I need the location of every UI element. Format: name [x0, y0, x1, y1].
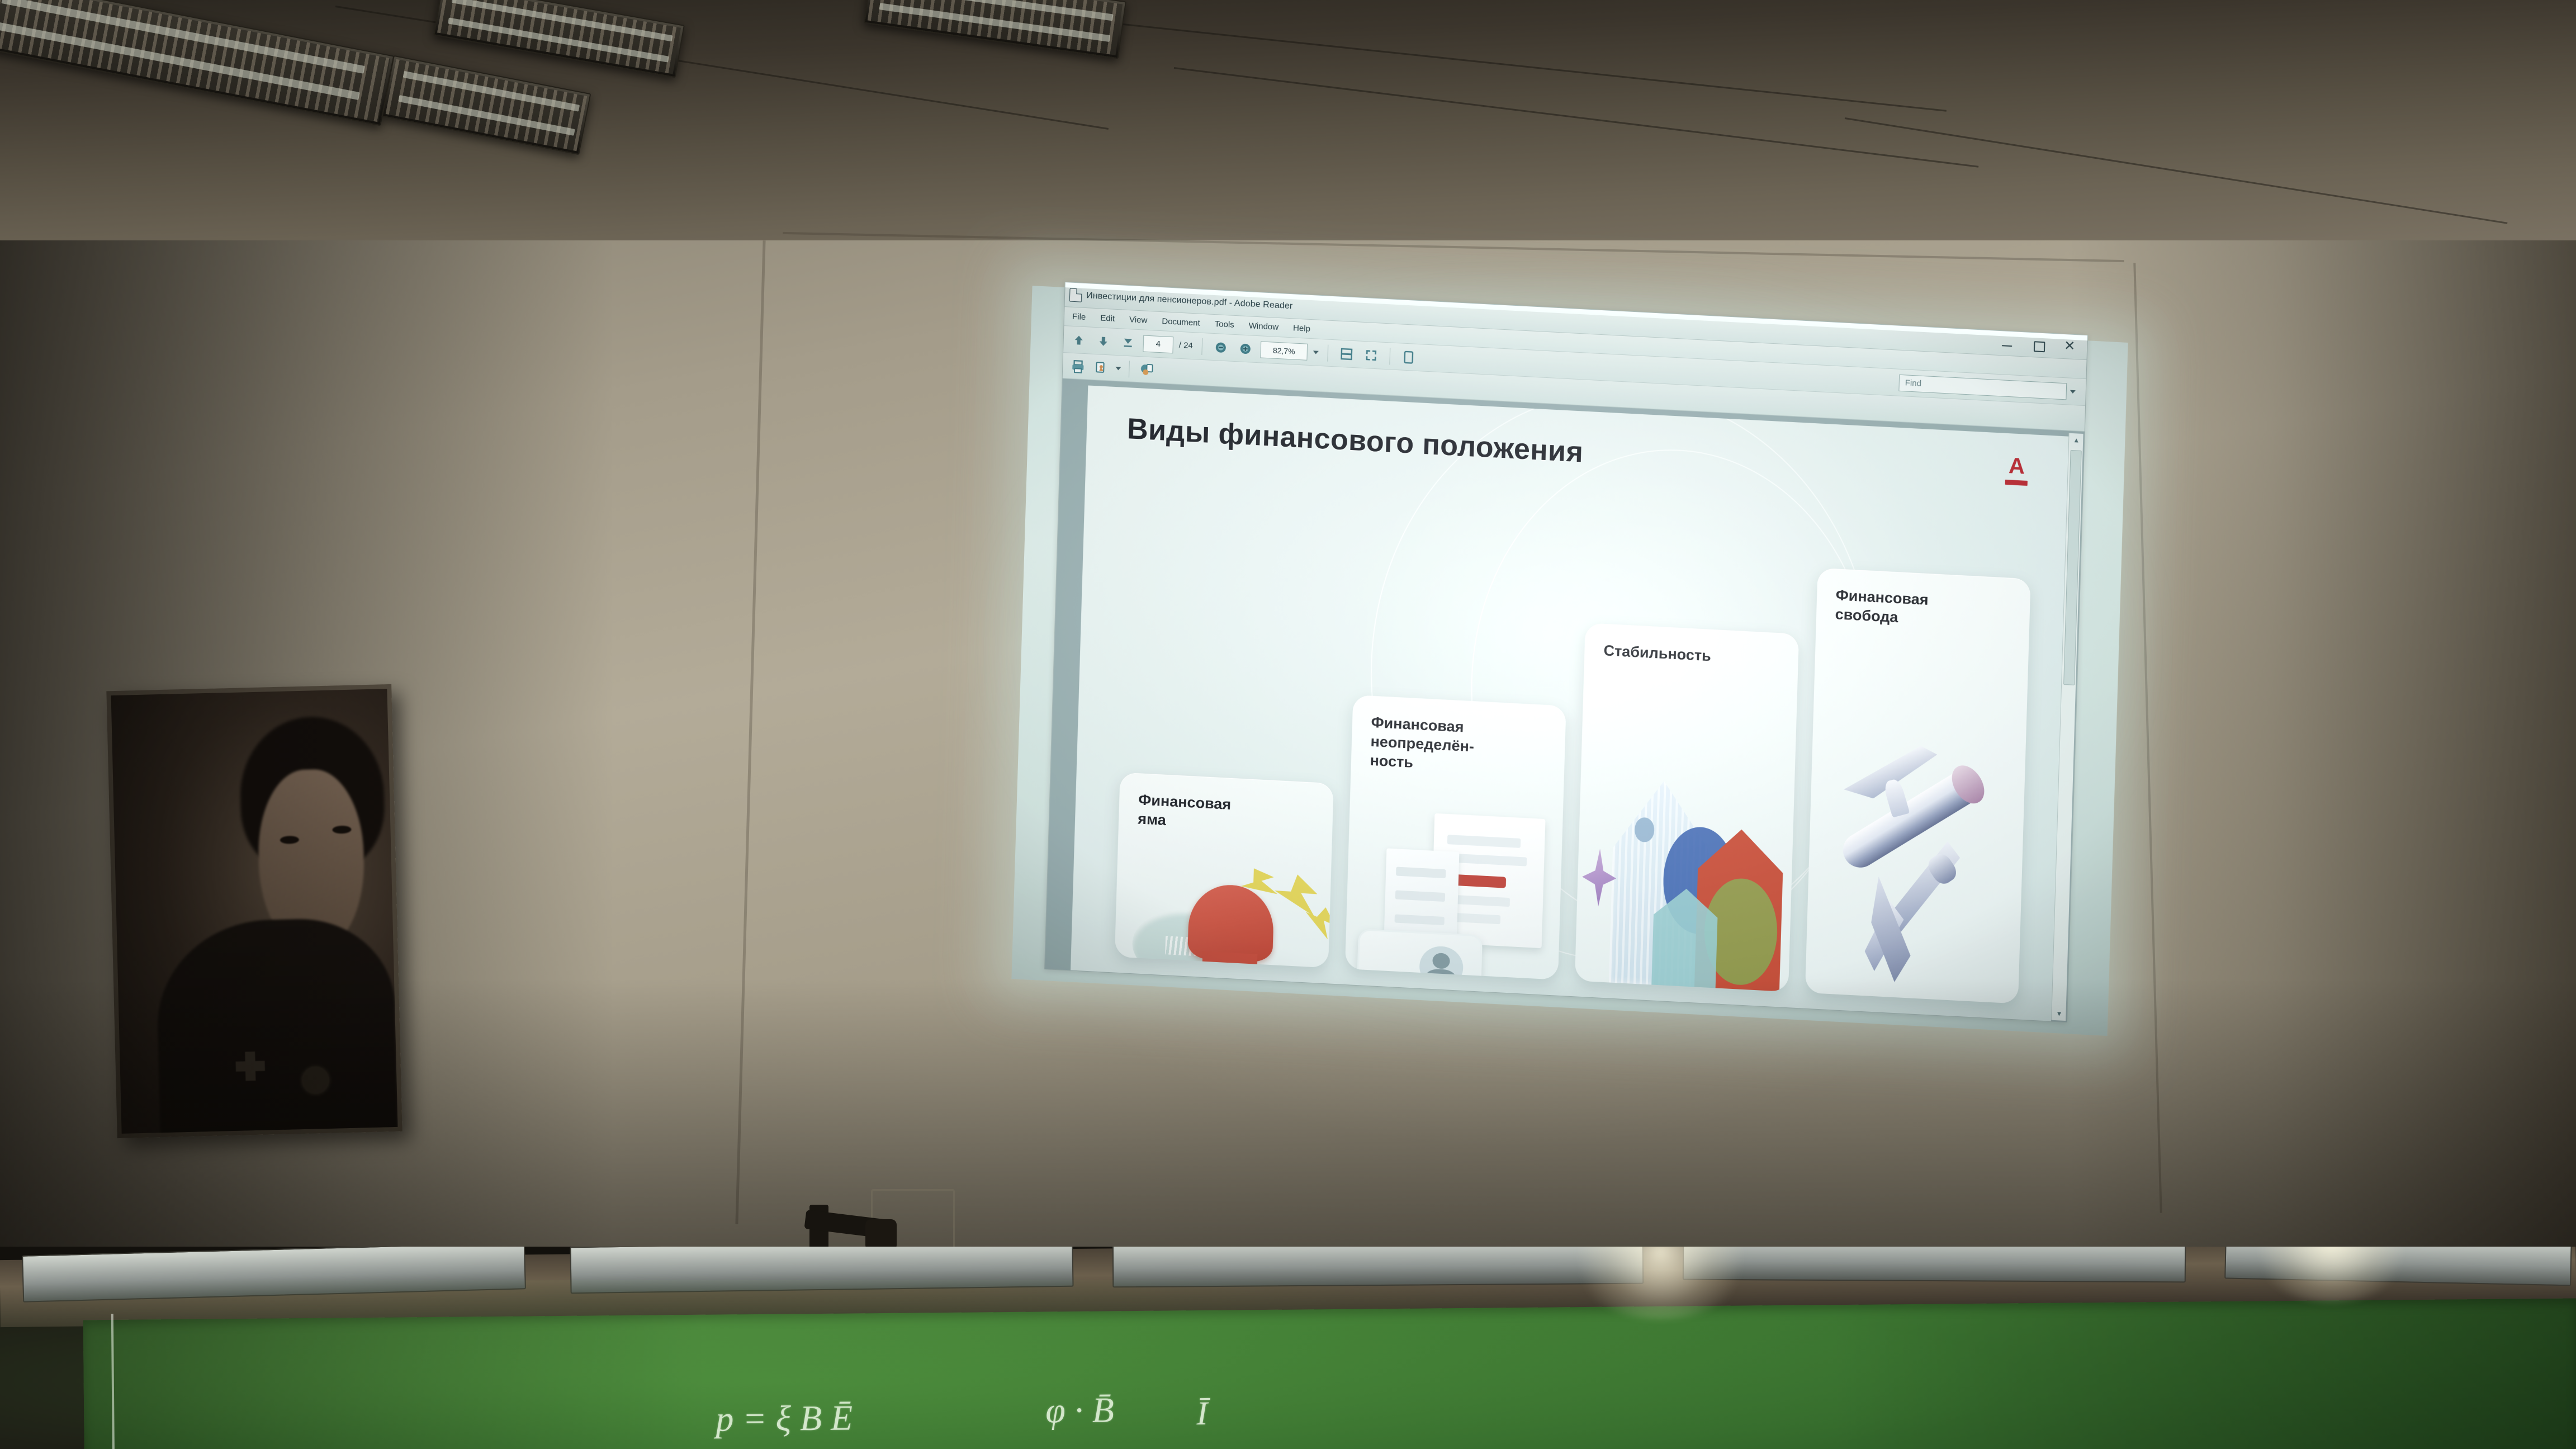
- card-financial-pit[interactable]: Финансовая яма: [1115, 773, 1333, 968]
- print-icon[interactable]: [1068, 356, 1088, 376]
- airplane-art: [1805, 687, 2027, 1004]
- projection-screen: Инвестиции для пенсионеров.pdf - Adobe R…: [1011, 286, 2128, 1036]
- menu-item-tools[interactable]: Tools: [1214, 319, 1234, 330]
- alert-bell-icon: [1187, 883, 1275, 963]
- menu-item-file[interactable]: File: [1072, 312, 1086, 322]
- window-controls: ✕: [2000, 336, 2083, 355]
- email-icon[interactable]: [1092, 357, 1111, 377]
- chevron-down-icon[interactable]: [1313, 351, 1319, 354]
- zoom-in-icon[interactable]: [1235, 339, 1255, 359]
- window-title: Инвестиции для пенсионеров.pdf - Adobe R…: [1086, 291, 1293, 311]
- card-stability[interactable]: Стабильность: [1575, 623, 1799, 992]
- card-financial-freedom[interactable]: Финансовая свобода: [1805, 568, 2030, 1004]
- adobe-reader-icon: [1069, 288, 1082, 302]
- airplane-icon: [1805, 698, 2030, 999]
- cards-row: Финансовая яма Финансовая неопр: [1115, 532, 2031, 1004]
- classroom-scene: Инвестиции для пенсионеров.pdf - Adobe R…: [0, 0, 2576, 1449]
- chevron-down-icon[interactable]: [1115, 366, 1121, 370]
- adobe-reader-window: Инвестиции для пенсионеров.pdf - Adobe R…: [1044, 282, 2088, 1022]
- chalkboard: p = ξ B Ē φ · B̄ Ī: [83, 1299, 2576, 1449]
- zoom-out-icon[interactable]: [1211, 337, 1230, 357]
- card-label: Стабильность: [1603, 641, 1784, 669]
- find-area: Find: [1898, 374, 2080, 400]
- tools-icon[interactable]: [1137, 360, 1157, 380]
- lightning-bolt-icon: [1272, 872, 1320, 917]
- search-input[interactable]: Find: [1898, 374, 2067, 400]
- alfa-bank-logo: A: [2004, 456, 2030, 487]
- minimize-icon[interactable]: [2000, 336, 2015, 351]
- houses-circles-art: [1575, 759, 1794, 992]
- menu-item-edit[interactable]: Edit: [1100, 313, 1115, 323]
- menu-item-window[interactable]: Window: [1248, 321, 1278, 332]
- menu-item-view[interactable]: View: [1129, 315, 1148, 325]
- card-label: Финансовая свобода: [1835, 586, 2016, 633]
- chalkboard-area: p = ξ B Ē φ · B̄ Ī: [0, 1247, 2576, 1449]
- wall-shading: [0, 978, 2576, 1291]
- documents-id-card-art: [1344, 799, 1563, 980]
- chevron-down-icon[interactable]: [2070, 390, 2076, 394]
- menu-item-help[interactable]: Help: [1293, 323, 1310, 334]
- fit-page-icon[interactable]: [1361, 345, 1381, 365]
- zoom-value-input[interactable]: 82,7%: [1260, 341, 1308, 360]
- scroll-up-icon[interactable]: ▲: [2071, 434, 2082, 446]
- card-label: Финансовая неопределён- ность: [1370, 713, 1551, 779]
- bell-alert-coin-art: [1115, 842, 1332, 968]
- id-card-icon: [1357, 929, 1483, 980]
- page-number-input[interactable]: 4: [1143, 335, 1173, 353]
- ceiling: [0, 0, 2576, 263]
- chalk-formula: p = ξ B Ē: [716, 1397, 853, 1439]
- maximize-icon[interactable]: [2031, 337, 2046, 352]
- arrow-down-icon[interactable]: [1093, 331, 1113, 351]
- page-total-label: / 24: [1179, 340, 1194, 351]
- chalk-formula: φ · B̄: [1045, 1389, 1114, 1431]
- pdf-page: Виды финансового положения A Финансовая …: [1071, 386, 2068, 1021]
- close-icon[interactable]: ✕: [2062, 339, 2077, 354]
- go-to-last-icon[interactable]: [1118, 333, 1138, 353]
- single-page-icon[interactable]: [1399, 347, 1418, 367]
- menu-item-document[interactable]: Document: [1162, 316, 1200, 328]
- chalk-formula: Ī: [1196, 1394, 1208, 1433]
- rail-panel: [1112, 1247, 1644, 1287]
- card-label: Финансовая яма: [1138, 790, 1319, 837]
- rail-panel: [570, 1247, 1073, 1294]
- arrow-up-icon[interactable]: [1069, 330, 1088, 350]
- avatar: [1419, 945, 1464, 980]
- card-financial-uncertainty[interactable]: Финансовая неопределён- ность: [1344, 695, 1566, 980]
- fit-width-icon[interactable]: [1337, 344, 1356, 364]
- pdf-document-area[interactable]: Виды финансового положения A Финансовая …: [1045, 378, 2085, 1022]
- rail-panel: [1683, 1247, 2186, 1282]
